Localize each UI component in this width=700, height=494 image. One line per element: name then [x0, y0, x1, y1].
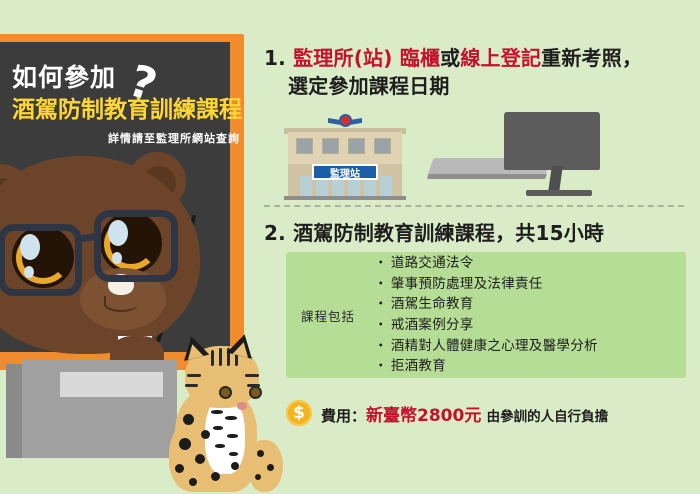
blackboard-subtitle: 詳情請至監理所網站查詢: [12, 130, 242, 146]
building-glass-panel: [300, 176, 312, 198]
step-1-line-2: 選定參加課程日期: [264, 72, 692, 100]
motor-vehicle-office-building-icon: 監理站: [284, 114, 406, 200]
cat-chest-mark: [215, 444, 225, 448]
course-item-label: 戒酒案例分享: [391, 317, 474, 333]
step-1-conjunction: 或: [440, 46, 460, 70]
course-item: ・道路交通法令: [374, 253, 686, 274]
course-item: ・酒精對人體健康之心理及醫學分析: [374, 336, 686, 357]
monitor-stand-base: [526, 190, 592, 196]
dollar-coin-icon: $: [286, 400, 312, 426]
step-1-illustrations: 監理站: [264, 112, 694, 200]
infographic-page: 如何參加 ? 酒駕防制教育訓練課程 詳情請至監理所網站查詢: [0, 0, 700, 494]
glasses-lens-right: [94, 210, 178, 282]
bullet-icon: ・: [374, 296, 388, 312]
building-window: [348, 138, 365, 154]
cat-spot: [183, 414, 194, 425]
cat-spot: [195, 454, 205, 464]
cat-spot: [211, 472, 220, 481]
bullet-icon: ・: [374, 338, 388, 354]
cat-chest-mark: [211, 410, 223, 414]
bullet-icon: ・: [374, 317, 388, 333]
course-label: 課程包括: [286, 306, 370, 325]
cat-spot: [189, 478, 197, 486]
step-1-highlight-counter: 監理所(站) 臨櫃: [293, 46, 440, 70]
course-item: ・戒酒案例分享: [374, 315, 686, 336]
fee-amount: 新臺幣2800元: [366, 406, 481, 426]
bullet-icon: ・: [374, 255, 388, 271]
fee-prefix: 費用：: [321, 407, 366, 425]
course-item: ・拒酒教育: [374, 356, 686, 377]
step-2: 2. 酒駕防制教育訓練課程，共15小時: [264, 219, 694, 247]
step-1-highlight-online: 線上登記: [460, 46, 541, 70]
course-contents-box: 課程包括 ・道路交通法令 ・肇事預防處理及法律責任 ・酒駕生命教育 ・戒酒案例分…: [286, 252, 686, 378]
cat-cheek-stripe: [185, 384, 198, 387]
step-2-number: 2.: [264, 221, 286, 245]
course-item: ・酒駕生命教育: [374, 294, 686, 315]
cat-nose: [237, 402, 247, 410]
glasses-lens-left: [0, 224, 82, 296]
course-item-label: 肇事預防處理及法律責任: [391, 276, 543, 292]
course-item-label: 酒駕生命教育: [391, 296, 474, 312]
cat-tail-spot: [255, 474, 261, 480]
course-item-label: 拒酒教育: [391, 358, 446, 374]
monitor-screen: [504, 112, 600, 170]
step-1-line1-tail: 重新考照，: [541, 46, 642, 70]
cat-spot: [201, 430, 210, 439]
building-window: [322, 138, 339, 154]
building-sign-label: 監理站: [312, 164, 378, 180]
cat-cheek-stripe: [187, 374, 201, 377]
blackboard-text-group: 如何參加 ? 酒駕防制教育訓練課程 詳情請至監理所網站查詢: [12, 64, 242, 146]
cat-spot: [179, 438, 191, 450]
cat-eye-right: [249, 386, 262, 399]
step-1-number: 1.: [264, 46, 286, 70]
cat-tail-spot: [257, 450, 264, 457]
course-list: ・道路交通法令 ・肇事預防處理及法律責任 ・酒駕生命教育 ・戒酒案例分享 ・酒精…: [370, 253, 686, 376]
podium-panel: [60, 372, 163, 397]
podium: [22, 360, 177, 460]
cat-spot: [175, 464, 184, 473]
fee-row: $ 費用：新臺幣2800元 由參訓的人自行負擔: [286, 396, 696, 430]
bullet-icon: ・: [374, 358, 388, 374]
course-item-label: 酒精對人體健康之心理及醫學分析: [391, 338, 598, 354]
cat-forehead-stripe: [211, 350, 214, 366]
step-1-line-1: 1. 監理所(站) 臨櫃或線上登記重新考照，: [264, 44, 692, 72]
cat-eye-left: [219, 386, 232, 399]
bullet-icon: ・: [374, 276, 388, 292]
building-glass-panel: [380, 176, 392, 198]
glasses-icon: [0, 210, 190, 294]
keyboard-edge: [427, 174, 547, 179]
monitor-stand-neck: [548, 166, 563, 192]
cat-spot: [231, 462, 239, 470]
course-item-label: 道路交通法令: [391, 255, 474, 271]
cat-chest-mark: [225, 416, 237, 420]
fee-suffix: 由參訓的人自行負擔: [487, 409, 609, 425]
podium-front: [22, 360, 177, 458]
desktop-computer-icon: [474, 112, 600, 200]
cat-forehead-stripe: [219, 348, 222, 366]
cat-chest-mark: [227, 434, 238, 438]
step-2-heading-row: 2. 酒駕防制教育訓練課程，共15小時: [264, 219, 694, 247]
course-item: ・肇事預防處理及法律責任: [374, 274, 686, 295]
bear-mouth: [104, 296, 138, 312]
building-window: [374, 138, 391, 154]
cat-cheek-stripe: [245, 374, 259, 377]
fee-text: 費用：新臺幣2800元 由參訓的人自行負擔: [321, 401, 608, 426]
section-divider: [264, 205, 684, 207]
building-base: [284, 196, 406, 200]
building-window: [296, 138, 313, 154]
cat-chest-mark: [213, 426, 223, 430]
cat-chest-mark: [229, 452, 238, 456]
emblem-center: [339, 114, 352, 127]
content-column: 1. 監理所(站) 臨櫃或線上登記重新考照， 選定參加課程日期: [264, 0, 700, 494]
step-1: 1. 監理所(站) 臨櫃或線上登記重新考照， 選定參加課程日期: [264, 44, 692, 101]
step-2-heading: 酒駕防制教育訓練課程，共15小時: [293, 221, 604, 245]
